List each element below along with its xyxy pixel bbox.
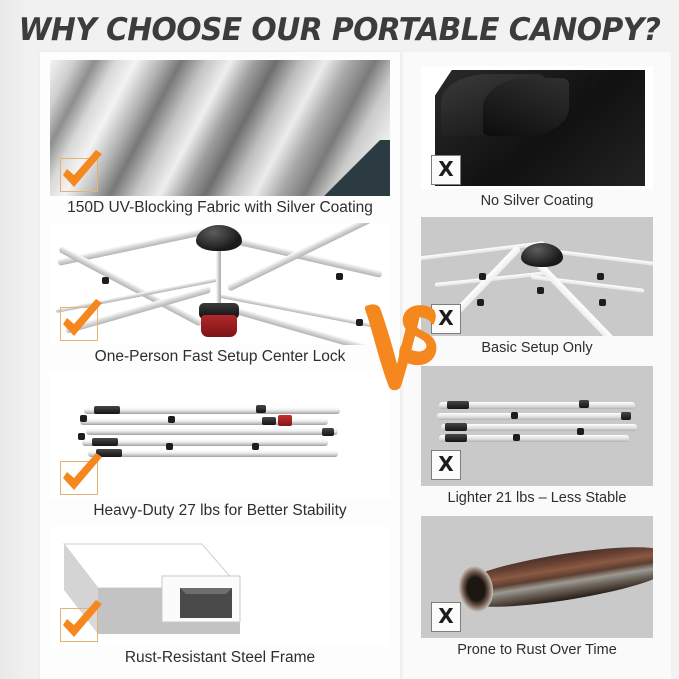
- check-icon: [60, 461, 98, 495]
- joint-dot: [80, 415, 87, 422]
- center-lock-red: [201, 315, 237, 337]
- joint-dot: [511, 412, 518, 419]
- joint-dot: [513, 434, 520, 441]
- pro-caption-2: One-Person Fast Setup Center Lock: [40, 345, 400, 371]
- pro-row-2: One-Person Fast Setup Center Lock: [40, 223, 400, 371]
- vs-icon: [364, 300, 440, 392]
- folded-tube: [441, 424, 637, 431]
- folded-heavy-frame-photo: [50, 371, 390, 499]
- x-icon: X: [431, 602, 461, 632]
- pro-caption-3: Heavy-Duty 27 lbs for Better Stability: [40, 499, 400, 526]
- joint-dot: [102, 277, 109, 284]
- tube-end-cap: [445, 423, 467, 431]
- folded-tube: [82, 439, 328, 446]
- tube-end-cap: [262, 417, 276, 425]
- pro-column: 150D UV-Blocking Fabric with Silver Coat…: [40, 52, 400, 679]
- con-caption-3: Lighter 21 lbs – Less Stable: [403, 486, 671, 516]
- con-column: X No Silver Coating X Basi: [403, 52, 671, 679]
- pro-caption-4: Rust-Resistant Steel Frame: [40, 646, 400, 672]
- joint-dot: [537, 287, 544, 294]
- tube-end-cap: [447, 401, 469, 409]
- x-icon: X: [431, 450, 461, 480]
- check-icon: [60, 158, 98, 192]
- tube-end-cap: [256, 405, 266, 413]
- folded-tube: [86, 428, 338, 435]
- check-icon: [60, 307, 98, 341]
- pro-row-1: 150D UV-Blocking Fabric with Silver Coat…: [40, 60, 400, 223]
- con-caption-1: No Silver Coating: [403, 189, 671, 217]
- square-steel-tube-photo: [50, 526, 390, 646]
- tube-end-cap: [621, 412, 631, 420]
- top-hub: [196, 225, 242, 251]
- tube-end-cap: [92, 438, 118, 446]
- folded-tube: [437, 413, 629, 420]
- joint-dot: [336, 273, 343, 280]
- pro-caption-1: 150D UV-Blocking Fabric with Silver Coat…: [40, 196, 400, 223]
- joint-dot: [479, 273, 486, 280]
- silver-coated-fabric-photo: [50, 60, 390, 196]
- joint-dot: [597, 273, 604, 280]
- check-icon: [60, 608, 98, 642]
- folded-tube: [88, 450, 338, 457]
- page-title-text: WHY CHOOSE OUR PORTABLE CANOPY?: [14, 8, 666, 52]
- con-row-2: X Basic Setup Only: [403, 217, 671, 366]
- joint-dot: [577, 428, 584, 435]
- x-icon: X: [431, 155, 461, 185]
- joint-dot: [166, 443, 173, 450]
- basic-frame-photo: X: [421, 217, 653, 336]
- pro-row-4: Rust-Resistant Steel Frame: [40, 526, 400, 672]
- folded-tube: [84, 407, 340, 414]
- versus-badge: [364, 300, 440, 392]
- con-row-4: X Prone to Rust Over Time: [403, 516, 671, 668]
- joint-dot: [168, 416, 175, 423]
- fabric-fold: [483, 78, 569, 136]
- rusty-round-pipe-photo: X: [421, 516, 653, 638]
- con-row-3: X Lighter 21 lbs – Less Stable: [403, 366, 671, 516]
- comparison-infographic: WHY CHOOSE OUR PORTABLE CANOPY? 150D UV-…: [0, 0, 679, 679]
- fabric-dark-corner: [318, 140, 390, 196]
- tube-end-cap: [579, 400, 589, 408]
- black-uncoated-fabric-photo: X: [421, 66, 653, 189]
- con-row-1: X No Silver Coating: [403, 66, 671, 217]
- folded-tube: [439, 435, 629, 442]
- top-hub: [521, 243, 563, 267]
- con-caption-2: Basic Setup Only: [403, 336, 671, 366]
- joint-dot: [356, 319, 363, 326]
- joint-dot: [252, 443, 259, 450]
- pro-row-3: Heavy-Duty 27 lbs for Better Stability: [40, 371, 400, 526]
- joint-dot: [599, 299, 606, 306]
- joint-dot: [477, 299, 484, 306]
- tube-end-cap: [445, 434, 467, 442]
- tube-end-cap: [94, 406, 120, 414]
- con-caption-4: Prone to Rust Over Time: [403, 638, 671, 668]
- center-lock-frame-photo: [50, 223, 390, 345]
- folded-light-frame-photo: X: [421, 366, 653, 486]
- joint-dot: [78, 433, 85, 440]
- center-lock-red: [278, 415, 292, 426]
- page-title: WHY CHOOSE OUR PORTABLE CANOPY?: [0, 8, 679, 52]
- tube-end-cap: [322, 428, 334, 436]
